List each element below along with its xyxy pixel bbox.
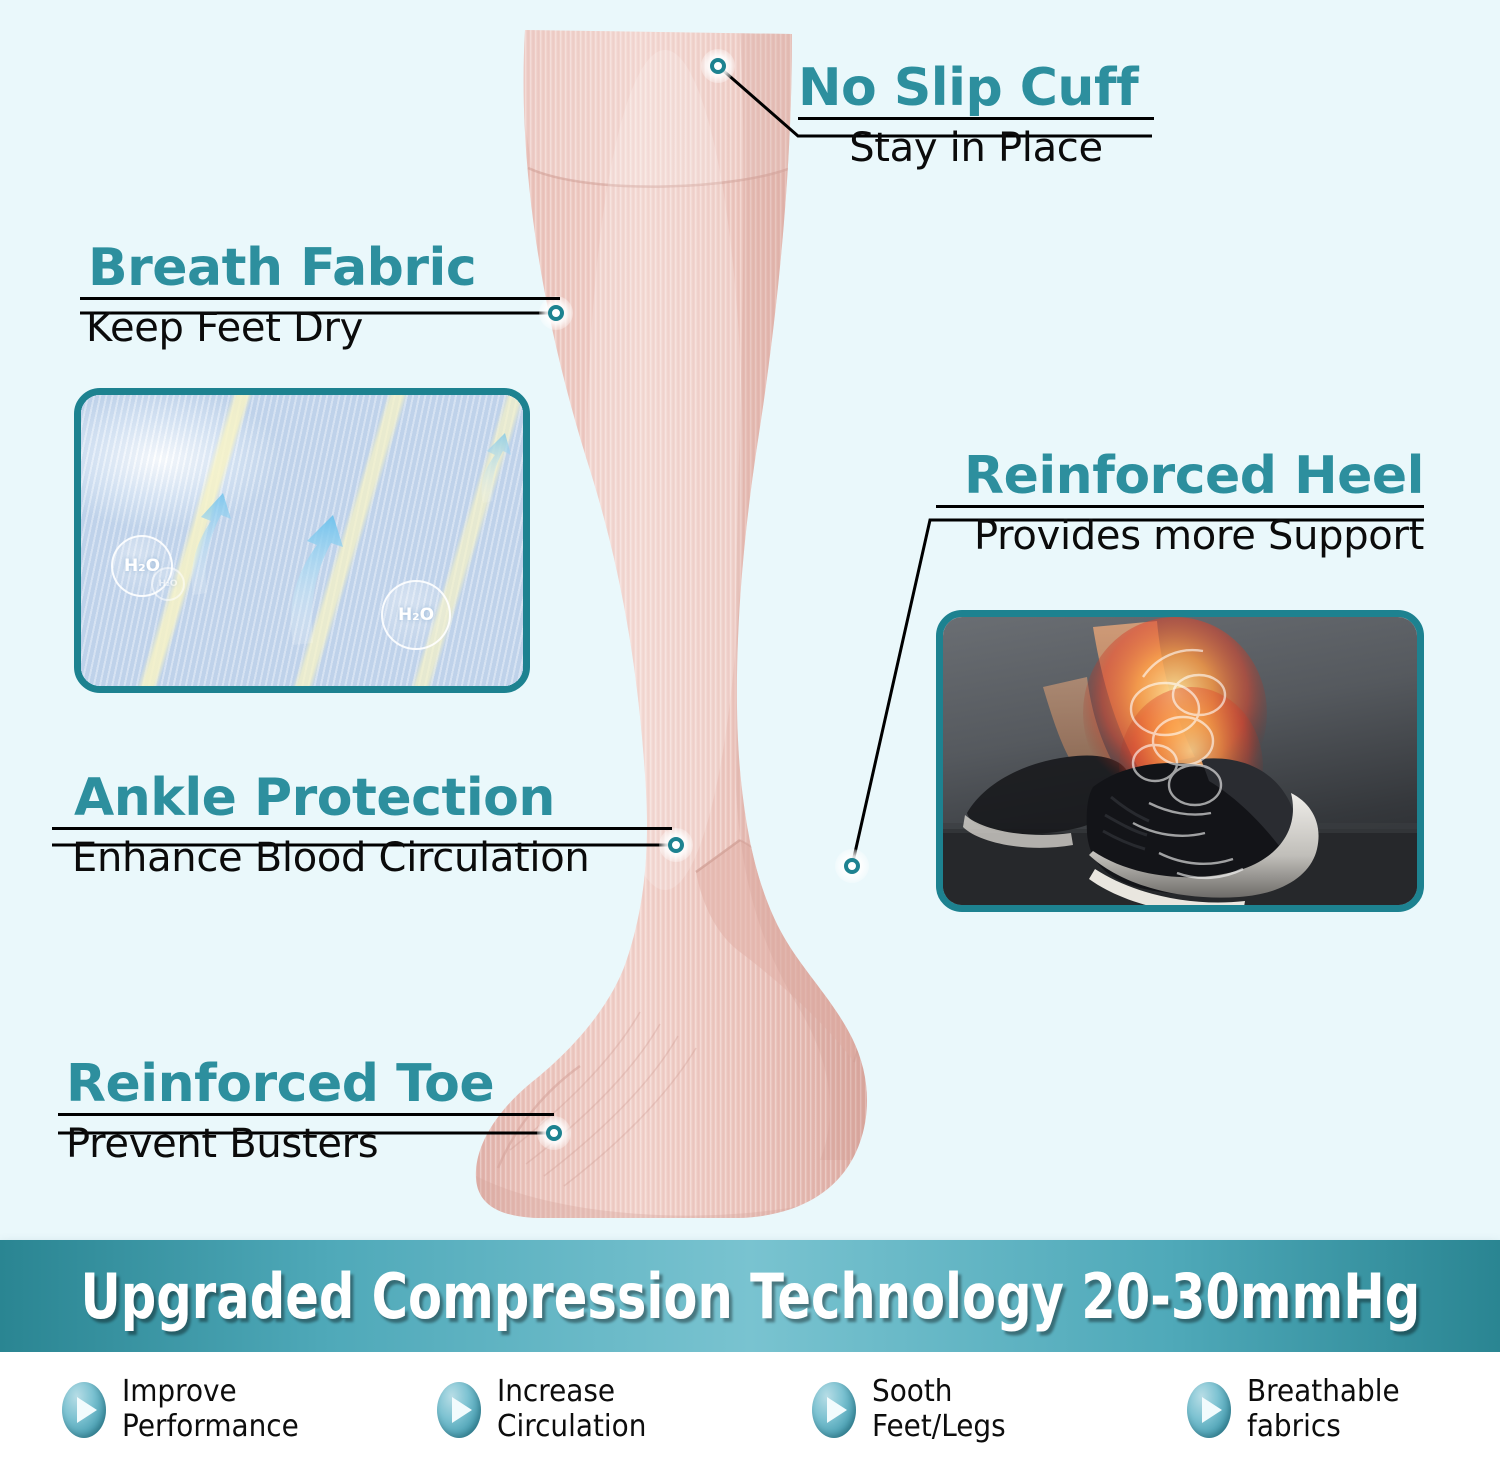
banner-text: Upgraded Compression Technology 20-30mmH…: [80, 1260, 1420, 1333]
feature-bar: Improve Performance Increase Circulation…: [0, 1352, 1500, 1468]
callout-ankle-protection: Ankle Protection Enhance Blood Circulati…: [52, 772, 672, 881]
feature-label: Increase Circulation: [497, 1375, 646, 1445]
feature-item-sooth-feet-legs[interactable]: Sooth Feet/Legs: [750, 1375, 1125, 1445]
callout-subtitle: Keep Feet Dry: [80, 305, 560, 351]
ankle-photo-art: [943, 617, 1424, 912]
play-icon: [437, 1382, 481, 1438]
callout-title: No Slip Cuff: [798, 62, 1154, 115]
photo-ankle-support: [936, 610, 1424, 912]
callout-subtitle: Prevent Busters: [58, 1121, 554, 1167]
callout-subtitle: Stay in Place: [798, 125, 1154, 171]
callout-title: Ankle Protection: [52, 772, 672, 825]
callout-title: Breath Fabric: [80, 242, 560, 295]
feature-label: Breathable fabrics: [1247, 1375, 1400, 1445]
callout-title: Reinforced Toe: [58, 1058, 554, 1111]
callout-no-slip-cuff: No Slip Cuff Stay in Place: [798, 62, 1154, 171]
feature-label: Improve Performance: [122, 1375, 299, 1445]
h2o-bubble-small: H₂O: [151, 567, 185, 601]
callout-reinforced-toe: Reinforced Toe Prevent Busters: [58, 1058, 554, 1167]
photo-breathable-fabric: H₂O H₂O H₂O: [74, 388, 530, 693]
callout-title: Reinforced Heel: [936, 450, 1424, 503]
play-icon: [812, 1382, 856, 1438]
callout-subtitle: Enhance Blood Circulation: [52, 835, 672, 881]
feature-label: Sooth Feet/Legs: [872, 1375, 1006, 1445]
infographic-canvas: No Slip Cuff Stay in Place Breath Fabric…: [0, 0, 1500, 1468]
feature-item-improve-performance[interactable]: Improve Performance: [0, 1375, 375, 1445]
callout-subtitle: Provides more Support: [936, 513, 1424, 559]
callout-breath-fabric: Breath Fabric Keep Feet Dry: [80, 242, 560, 351]
compression-banner: Upgraded Compression Technology 20-30mmH…: [0, 1240, 1500, 1352]
feature-item-increase-circulation[interactable]: Increase Circulation: [375, 1375, 750, 1445]
play-icon: [1187, 1382, 1231, 1438]
play-icon: [62, 1382, 106, 1438]
callout-reinforced-heel: Reinforced Heel Provides more Support: [936, 450, 1424, 559]
h2o-bubble: H₂O: [381, 580, 451, 650]
feature-item-breathable-fabrics[interactable]: Breathable fabrics: [1125, 1375, 1500, 1445]
